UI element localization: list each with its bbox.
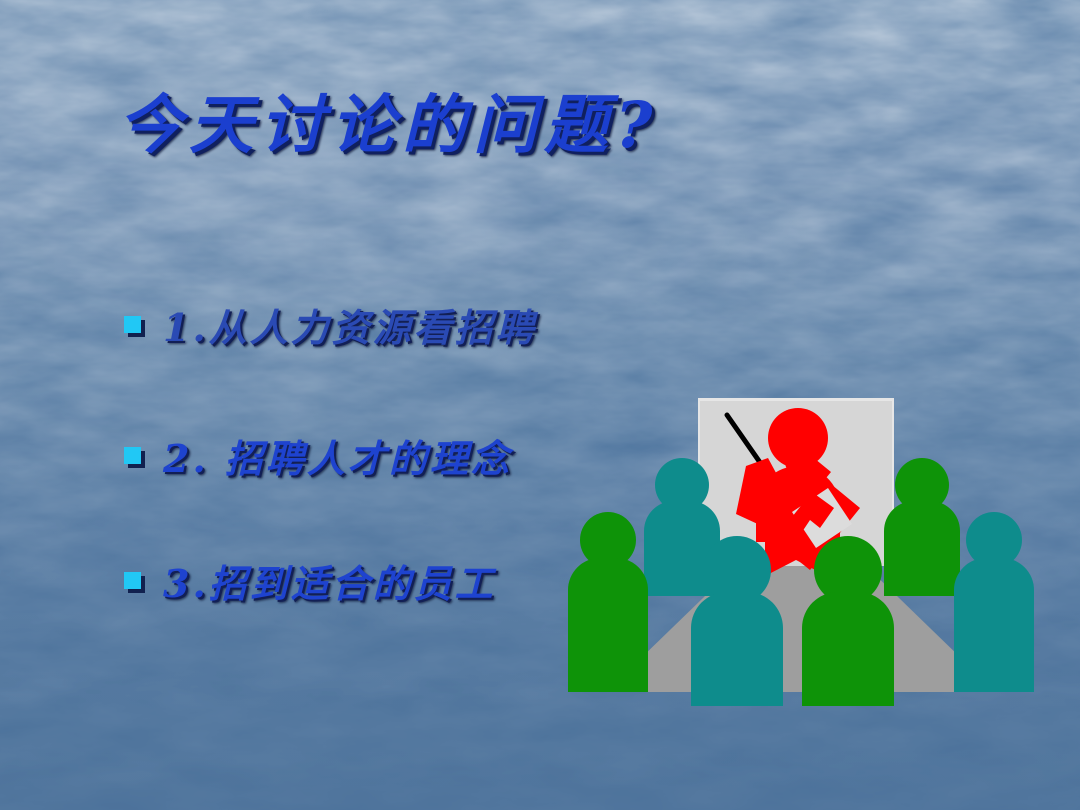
bullet-item-2: 2. 招聘人才的理念	[124, 428, 512, 483]
audience-figure-mid-right	[954, 512, 1034, 692]
bullet-item-3: 3.招到适合的员工	[124, 553, 496, 608]
bullet-item-3-label: 3.招到适合的员工	[163, 553, 496, 608]
audience-figure-front-left	[691, 536, 783, 706]
audience-figure-back-right	[884, 458, 960, 596]
audience-figure-front-right	[802, 536, 894, 706]
presentation-meeting-clipart	[560, 380, 1040, 720]
bullet-item-1: 1.从人力资源看招聘	[124, 297, 537, 352]
square-bullet-icon	[124, 572, 141, 589]
slide-canvas: 今天讨论的问题? 1.从人力资源看招聘 2. 招聘人才的理念 3.招到适合的员工	[0, 0, 1080, 810]
square-bullet-icon	[124, 316, 141, 333]
slide-title: 今天讨论的问题?	[118, 74, 660, 166]
audience-figure-mid-left	[568, 512, 648, 692]
bullet-item-1-label: 1.从人力资源看招聘	[163, 297, 537, 352]
bullet-item-2-label: 2. 招聘人才的理念	[163, 428, 512, 483]
square-bullet-icon	[124, 447, 141, 464]
